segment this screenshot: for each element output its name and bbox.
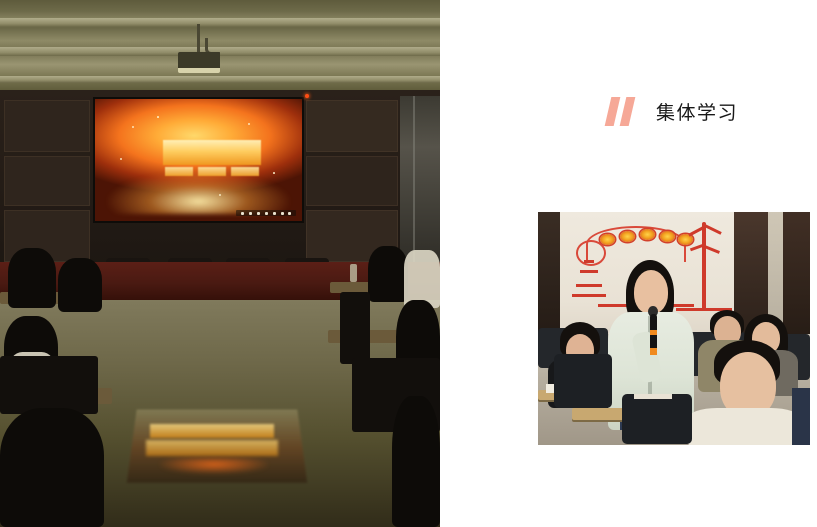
left-photo-scene xyxy=(0,0,440,527)
wall-panel xyxy=(783,212,810,340)
ceiling-projector xyxy=(178,52,220,69)
audience-person xyxy=(392,396,440,527)
audience-person xyxy=(8,248,56,308)
mural-stroke xyxy=(584,260,594,263)
audience-person xyxy=(0,408,104,527)
side-window xyxy=(400,96,440,266)
audience-chair xyxy=(340,292,370,364)
slash-mark-2-icon xyxy=(620,97,636,126)
wall-panel xyxy=(306,156,398,206)
side-person-sleeve xyxy=(792,388,810,445)
mural-lantern-icon xyxy=(660,231,675,242)
chair-back xyxy=(554,354,612,408)
spark xyxy=(157,116,159,118)
ceiling-beam xyxy=(0,47,440,56)
accent-slash-marks xyxy=(608,97,632,126)
wall-panel xyxy=(4,100,90,152)
mural-lantern-icon xyxy=(600,234,615,245)
spark xyxy=(132,126,134,128)
heading-title: 集体学习 xyxy=(656,98,738,125)
projection-screen xyxy=(95,99,302,221)
spark xyxy=(248,123,250,125)
ceiling-beam xyxy=(0,18,440,27)
audience-person xyxy=(368,246,408,302)
floor-reflection-text xyxy=(146,440,278,456)
microphone-band xyxy=(650,330,657,335)
projector-lens xyxy=(178,68,220,73)
photo-left xyxy=(0,0,440,527)
mural-lantern-icon xyxy=(620,231,635,242)
mural-lantern-icon xyxy=(640,229,655,240)
microphone-band xyxy=(650,348,657,355)
wall-panel xyxy=(4,156,90,206)
paper-sheet xyxy=(634,394,672,399)
foreground-person-shirt xyxy=(688,408,800,445)
water-bottle xyxy=(350,264,357,282)
floor-reflection-text xyxy=(150,424,274,438)
ceiling-beam xyxy=(0,76,440,83)
audience-chair xyxy=(0,356,98,414)
screen-glow xyxy=(107,172,289,213)
photo-right xyxy=(538,212,810,445)
mural-bamboo-icon xyxy=(702,222,706,310)
floor-reflection-glow xyxy=(160,458,268,474)
slide-subtitle-graphic xyxy=(165,167,258,176)
mural-stroke xyxy=(576,284,602,287)
section-heading: 集体学习 xyxy=(608,97,738,126)
mural-stroke xyxy=(572,294,606,297)
audience-person xyxy=(58,258,102,312)
indicator-led xyxy=(305,94,309,98)
wall-panel xyxy=(538,212,560,340)
chair-back xyxy=(622,394,692,444)
slide-page: 集体学习 xyxy=(0,0,817,527)
mural-stroke xyxy=(580,270,598,273)
slash-mark-1-icon xyxy=(605,97,621,126)
spark xyxy=(120,158,122,160)
video-control-bar xyxy=(236,210,296,216)
projector-mount-rod xyxy=(197,24,200,54)
spark xyxy=(273,172,275,174)
slide-title-graphic xyxy=(163,140,260,164)
wall-panel xyxy=(306,100,398,152)
